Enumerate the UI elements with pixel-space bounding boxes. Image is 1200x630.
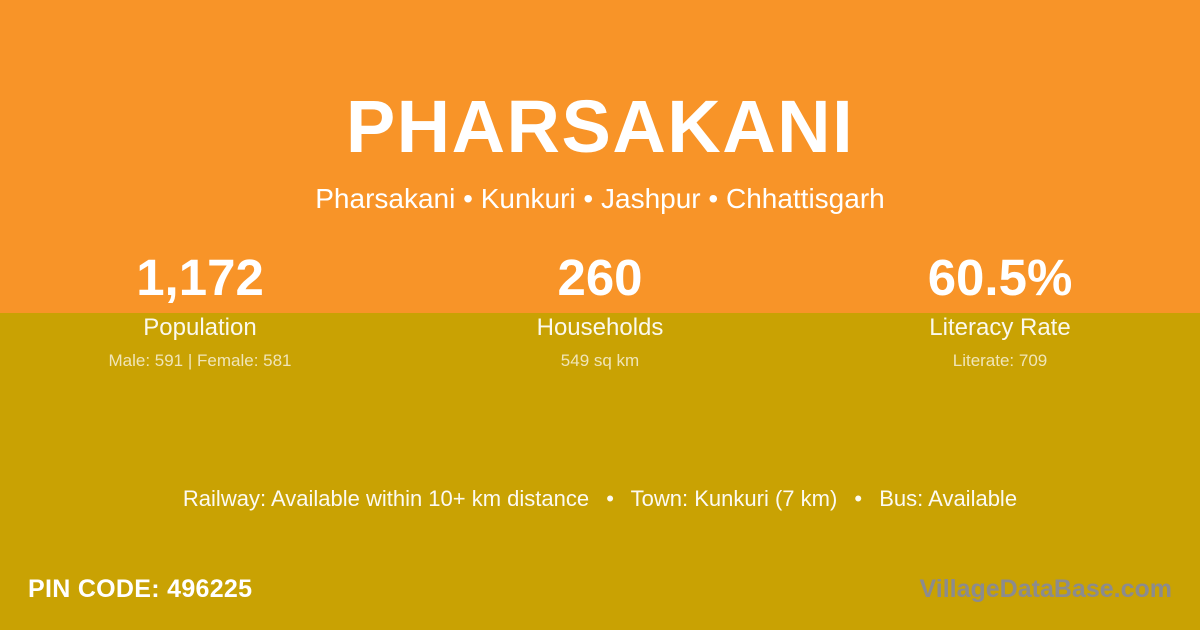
amenity-railway: Railway: Available within 10+ km distanc… [183, 486, 589, 511]
stats-row: 1,172 Population Male: 591 | Female: 581… [0, 248, 1200, 371]
stat-population: 1,172 Population Male: 591 | Female: 581 [0, 248, 400, 371]
stat-label-literacy-rate: Literacy Rate [800, 313, 1200, 342]
pin-code: PIN CODE: 496225 [28, 574, 252, 604]
stat-sub-households: 549 sq km [400, 350, 800, 371]
footer: PIN CODE: 496225 VillageDataBase.com [0, 560, 1200, 630]
amenity-bus: Bus: Available [879, 486, 1017, 511]
stat-literacy-rate: 60.5% Literacy Rate Literate: 709 [800, 248, 1200, 371]
breadcrumb: Pharsakani • Kunkuri • Jashpur • Chhatti… [0, 182, 1200, 216]
stat-label-population: Population [0, 313, 400, 342]
amenity-separator-1: • [595, 485, 625, 513]
village-info-card: PHARSAKANI Pharsakani • Kunkuri • Jashpu… [0, 0, 1200, 630]
page-title: PHARSAKANI [0, 86, 1200, 168]
amenities-line: Railway: Available within 10+ km distanc… [0, 485, 1200, 513]
stat-label-households: Households [400, 313, 800, 342]
stat-value-literacy-rate: 60.5% [800, 248, 1200, 308]
amenity-town: Town: Kunkuri (7 km) [631, 486, 838, 511]
stat-households: 260 Households 549 sq km [400, 248, 800, 371]
stat-sub-population: Male: 591 | Female: 581 [0, 350, 400, 371]
brand-watermark: VillageDataBase.com [920, 574, 1172, 604]
stat-value-households: 260 [400, 248, 800, 308]
stat-value-population: 1,172 [0, 248, 400, 308]
amenity-separator-2: • [843, 485, 873, 513]
stat-sub-literacy-rate: Literate: 709 [800, 350, 1200, 371]
